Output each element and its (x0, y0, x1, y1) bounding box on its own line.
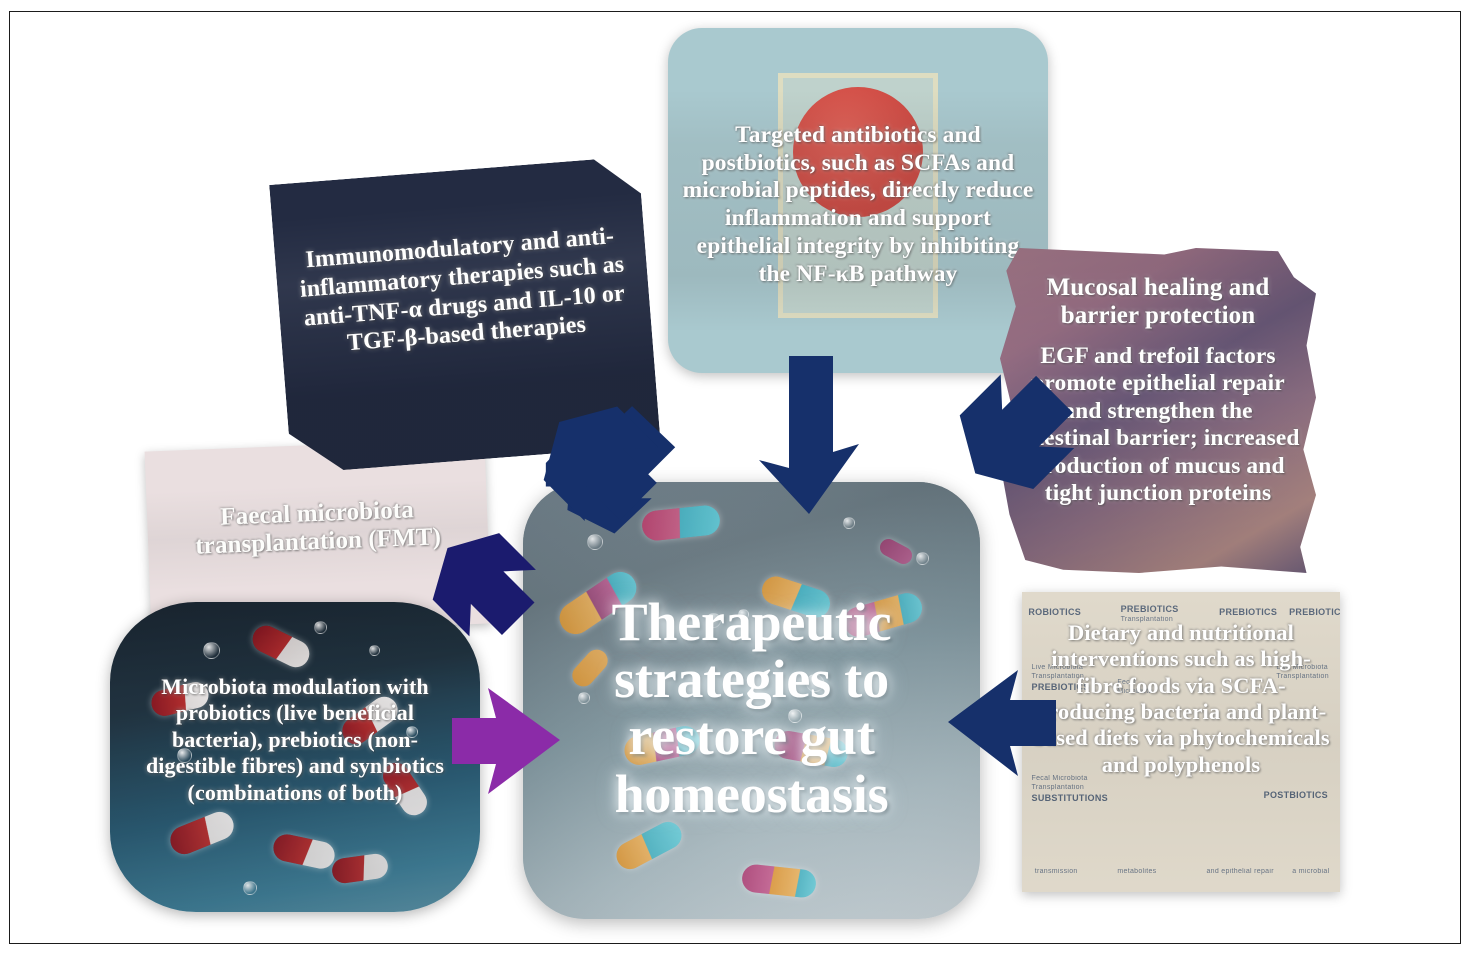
arrow-shape (759, 356, 859, 514)
arrow-fmt-to-center (430, 530, 560, 670)
panel-targeted-antibiotics[interactable]: Targeted antibiotics and postbiotics, su… (668, 28, 1048, 373)
panel-mucosal-heading: Mucosal healing and barrier protection (1014, 274, 1302, 330)
arrow-immuno-to-center (536, 404, 686, 550)
panel-scfa-text: Targeted antibiotics and postbiotics, su… (668, 28, 1048, 288)
panel-microbiota-modulation[interactable]: Microbiota modulation with probiotics (l… (110, 602, 480, 912)
panel-dietary-text: Dietary and nutritional interventions su… (1022, 592, 1340, 778)
arrow-shape (414, 515, 551, 652)
panel-microbiota-text: Microbiota modulation with probiotics (l… (110, 602, 480, 806)
arrow-dietary-to-center (944, 660, 1056, 786)
figure-canvas: Targeted antibiotics and postbiotics, su… (0, 0, 1473, 958)
arrow-microbiota-to-center (452, 678, 566, 804)
panel-immuno-text: Immunomodulatory and anti-inflammatory t… (269, 156, 652, 364)
arrow-shape (948, 670, 1056, 776)
arrow-shape (452, 688, 560, 794)
arrow-scfa-to-center (755, 356, 863, 521)
arrow-mucosal-to-center (928, 420, 1088, 580)
panel-dietary-interventions[interactable]: ROBIOTICS PREBIOTICS PREBIOTICS PREBIOTI… (1022, 592, 1340, 892)
